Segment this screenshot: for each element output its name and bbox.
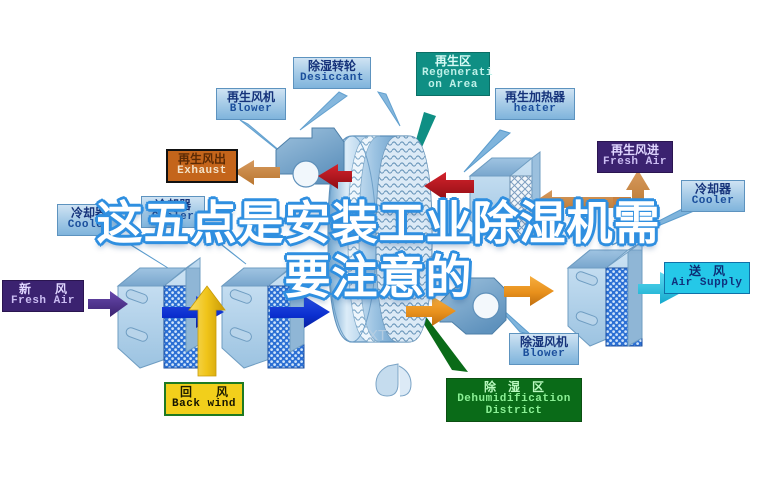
label-cooler-left-outer-en: Cooler bbox=[63, 220, 115, 232]
regen-fresh-arrow bbox=[534, 170, 650, 215]
label-cooler-right-cn: 冷却器 bbox=[687, 183, 739, 196]
label-dehumidification-blower-cn: 除湿风机 bbox=[515, 336, 573, 349]
label-regeneration-air-out[interactable]: 再生风出 Exhaust bbox=[166, 149, 238, 183]
label-air-supply[interactable]: 送 风 Air Supply bbox=[664, 262, 750, 294]
label-desiccant-rotor[interactable]: 除湿转轮 Desiccant bbox=[293, 57, 371, 89]
label-dehumidification-blower-en: Blower bbox=[515, 349, 573, 361]
label-desiccant-rotor-cn: 除湿转轮 bbox=[299, 60, 365, 73]
label-regeneration-blower-cn: 再生风机 bbox=[222, 91, 280, 104]
label-regeneration-area[interactable]: 再生区 Regenerati on Area bbox=[416, 52, 490, 96]
svg-text:XT: XT bbox=[368, 327, 387, 344]
label-dehumidification-blower[interactable]: 除湿风机 Blower bbox=[509, 333, 579, 365]
label-regeneration-blower[interactable]: 再生风机 Blower bbox=[216, 88, 286, 120]
exhaust-arrow bbox=[234, 160, 280, 185]
label-desiccant-rotor-en: Desiccant bbox=[299, 73, 365, 85]
label-air-supply-cn: 送 风 bbox=[670, 265, 744, 278]
label-cooler-right-en: Cooler bbox=[687, 196, 739, 208]
label-back-wind-cn: 回 风 bbox=[171, 386, 237, 399]
label-cooler-left-inner[interactable]: 冷却器 Cooler bbox=[141, 196, 205, 228]
dry-air-arrow-2 bbox=[504, 276, 554, 306]
label-cooler-left-inner-en: Cooler bbox=[147, 212, 199, 224]
label-regeneration-air-out-en: Exhaust bbox=[173, 166, 231, 178]
dehumidification-fan-housing bbox=[440, 278, 506, 334]
heater-coil bbox=[470, 152, 540, 238]
label-back-wind-en: Back wind bbox=[171, 399, 237, 411]
label-regeneration-air-in-cn: 再生风进 bbox=[603, 144, 667, 157]
label-regeneration-heater-cn: 再生加热器 bbox=[501, 91, 569, 104]
label-cooler-left-outer-cn: 冷却器 bbox=[63, 207, 115, 220]
label-back-wind[interactable]: 回 风 Back wind bbox=[164, 382, 244, 416]
label-dehumidification-area-en2: District bbox=[452, 406, 576, 418]
leader-line-cooler-left2 bbox=[205, 232, 246, 264]
label-dehumidification-area[interactable]: 除 湿 区 Dehumidification District bbox=[446, 378, 582, 422]
leader-line-cooler-left bbox=[120, 238, 168, 268]
label-fresh-air-inlet-en: Fresh Air bbox=[8, 296, 78, 308]
label-air-supply-en: Air Supply bbox=[670, 278, 744, 290]
dehumidifier-schematic-art: XT bbox=[0, 0, 757, 488]
label-cooler-left-inner-cn: 冷却器 bbox=[147, 199, 199, 212]
label-regeneration-heater-en: heater bbox=[501, 104, 569, 116]
label-regeneration-blower-en: Blower bbox=[222, 104, 280, 116]
label-regeneration-heater[interactable]: 再生加热器 heater bbox=[495, 88, 575, 120]
label-regeneration-area-en2: on Area bbox=[422, 80, 484, 92]
label-cooler-left-outer[interactable]: 冷却器 Cooler bbox=[57, 204, 121, 236]
label-regeneration-air-out-cn: 再生风出 bbox=[173, 153, 231, 166]
supply-coil bbox=[568, 242, 642, 346]
label-fresh-air-inlet[interactable]: 新 风 Fresh Air bbox=[2, 280, 84, 312]
label-regeneration-air-in-en: Fresh Air bbox=[603, 157, 667, 169]
label-regeneration-air-in[interactable]: 再生风进 Fresh Air bbox=[597, 141, 673, 173]
label-dehumidification-area-cn: 除 湿 区 bbox=[452, 381, 576, 394]
regen-hot-arrow-2 bbox=[424, 172, 474, 201]
label-regeneration-area-cn: 再生区 bbox=[422, 55, 484, 68]
label-fresh-air-inlet-cn: 新 风 bbox=[8, 283, 78, 296]
label-cooler-right[interactable]: 冷却器 Cooler bbox=[681, 180, 745, 212]
schematic-canvas: XT bbox=[0, 0, 757, 488]
